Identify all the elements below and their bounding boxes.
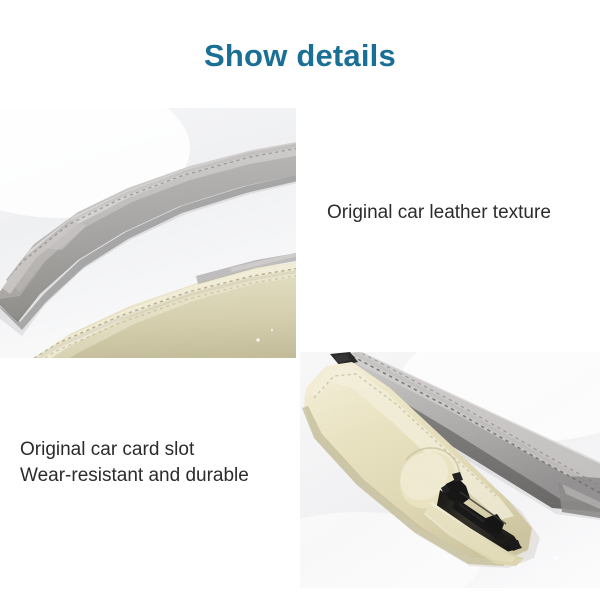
caption-card-slot: Original car card slot Wear-resistant an… [20, 437, 249, 489]
page-title: Show details [0, 36, 600, 76]
card-slot-photo [300, 352, 600, 588]
leather-texture-photo [0, 108, 296, 358]
product-detail-page: Show details [0, 0, 600, 600]
caption-leather-texture: Original car leather texture [327, 200, 551, 226]
